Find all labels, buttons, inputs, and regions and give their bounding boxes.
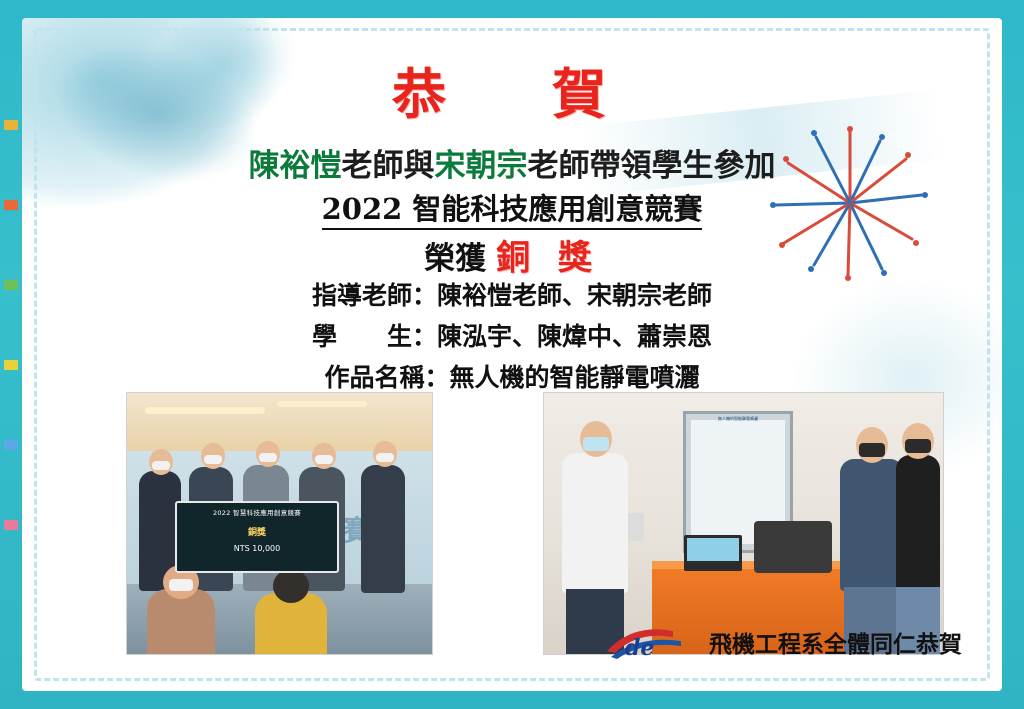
detail-project-value: 無人機的智能靜電噴灑 bbox=[450, 363, 700, 392]
teacher-line: 陳裕愷老師與宋朝宗老師帶領學生參加 bbox=[22, 140, 1002, 185]
detail-students-value: 陳泓宇、陳煒中、蕭崇恩 bbox=[437, 322, 712, 351]
detail-advisors: 指導老師：陳裕愷老師、宋朝宗老師 bbox=[22, 276, 1002, 312]
footer-text: 飛機工程系全體同仁恭賀 bbox=[709, 625, 962, 659]
detail-students: 學 生：陳泓宇、陳煒中、蕭崇恩 bbox=[22, 317, 1002, 353]
teacher-name-1: 陳裕愷 bbox=[249, 148, 342, 184]
photo-left-mask-1 bbox=[152, 461, 170, 470]
detail-project-label: 作品名稱： bbox=[324, 363, 449, 392]
border-tick-5 bbox=[4, 440, 18, 450]
border-tick-6 bbox=[4, 520, 18, 530]
award-name: 銅 獎 bbox=[496, 238, 600, 278]
competition-name: 2022 智能科技應用創意競賽 bbox=[322, 192, 703, 230]
detail-project: 作品名稱：無人機的智能靜電噴灑 bbox=[22, 358, 1002, 394]
cheque-title: 2022 智慧科技應用創意競賽 bbox=[177, 507, 337, 517]
photo-left-audience-head-2 bbox=[273, 569, 309, 603]
competition-line: 2022 智能科技應用創意競賽 bbox=[22, 186, 1002, 228]
department-logo: de bbox=[603, 621, 699, 663]
border-tick-2 bbox=[4, 200, 18, 210]
drone bbox=[754, 521, 832, 573]
teacher-line-mid2: 老師帶領學生參加 bbox=[528, 148, 776, 184]
border-tick-1 bbox=[4, 120, 18, 130]
cheque-amount: NTS 10,000 bbox=[177, 544, 337, 553]
photo-right-person-1 bbox=[562, 453, 628, 593]
footer: de 飛機工程系全體同仁恭賀 bbox=[603, 621, 962, 663]
teacher-name-2: 宋朝宗 bbox=[435, 148, 528, 184]
teacher-line-mid1: 老師與 bbox=[342, 148, 435, 184]
photo-left-person-5 bbox=[361, 465, 405, 593]
photo-right-mask-2 bbox=[859, 443, 885, 457]
photo-left-mask-4 bbox=[315, 455, 333, 464]
award-cheque: 2022 智慧科技應用創意競賽 銅獎 NTS 10,000 bbox=[175, 501, 339, 573]
photo-right-person-3 bbox=[896, 455, 940, 591]
award-prefix: 榮獲 bbox=[424, 241, 486, 277]
photo-left-mask-2 bbox=[204, 455, 222, 464]
poster-canvas: 恭 賀 陳裕愷老師與宋朝宗老師帶領學生參加 2022 智能科技應用創意競賽 榮獲… bbox=[0, 0, 1024, 709]
headline: 恭 賀 bbox=[22, 50, 1002, 129]
photo-left-light-1 bbox=[145, 407, 265, 414]
photo-left-light-2 bbox=[277, 401, 367, 407]
poster-board-title: 無人機的智能靜電噴灑 bbox=[686, 416, 790, 422]
cheque-award: 銅獎 bbox=[177, 525, 337, 538]
photo-left-audience-mask-1 bbox=[169, 579, 193, 591]
photo-right-mask-3 bbox=[905, 439, 931, 453]
photo-left-mask-5 bbox=[376, 453, 394, 462]
border-tick-3 bbox=[4, 280, 18, 290]
award-line: 榮獲銅 獎 bbox=[22, 230, 1002, 279]
detail-advisors-label: 指導老師： bbox=[312, 281, 437, 310]
poster-inner-card: 恭 賀 陳裕愷老師與宋朝宗老師帶領學生參加 2022 智能科技應用創意競賽 榮獲… bbox=[22, 18, 1002, 691]
laptop-screen bbox=[687, 538, 739, 561]
detail-students-label: 學 生： bbox=[312, 322, 437, 351]
photo-right-mask-1 bbox=[583, 437, 609, 451]
svg-text:de: de bbox=[625, 635, 654, 661]
photo-award-ceremony: 智 競賽 bbox=[126, 392, 433, 655]
photo-left-mask-3 bbox=[259, 453, 277, 462]
photo-team-exhibit: 無人機的智能靜電噴灑 bbox=[543, 392, 944, 655]
detail-advisors-value: 陳裕愷老師、宋朝宗老師 bbox=[437, 281, 712, 310]
laptop bbox=[684, 535, 742, 571]
photo-right-person-2 bbox=[840, 459, 904, 591]
border-tick-4 bbox=[4, 360, 18, 370]
